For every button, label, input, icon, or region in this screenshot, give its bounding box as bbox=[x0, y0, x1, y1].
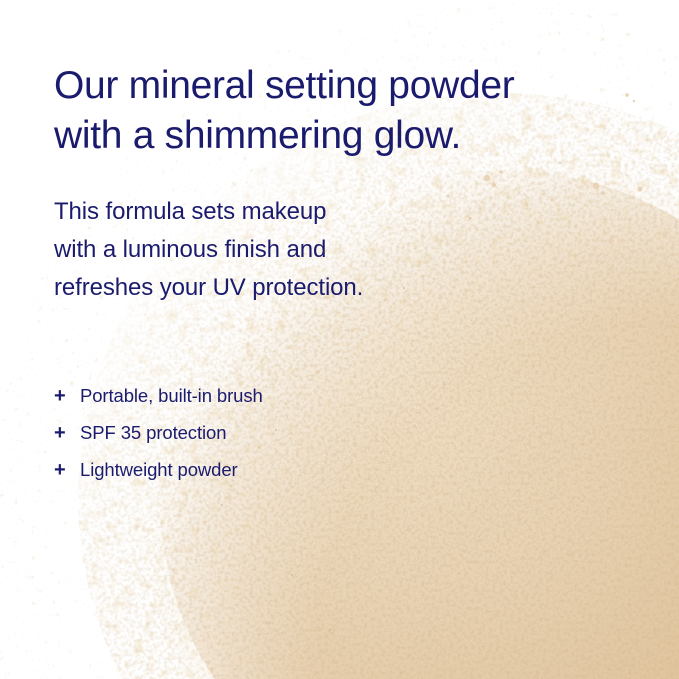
plus-icon: + bbox=[54, 386, 80, 406]
copy-block: Our mineral setting powder with a shimme… bbox=[0, 0, 679, 679]
feature-label: SPF 35 protection bbox=[80, 424, 226, 443]
page-title: Our mineral setting powder with a shimme… bbox=[54, 61, 614, 161]
plus-icon: + bbox=[54, 423, 80, 443]
plus-icon: + bbox=[54, 460, 80, 480]
list-item: + Lightweight powder bbox=[54, 460, 263, 497]
feature-label: Lightweight powder bbox=[80, 461, 238, 480]
list-item: + Portable, built-in brush bbox=[54, 386, 263, 423]
list-item: + SPF 35 protection bbox=[54, 423, 263, 460]
feature-list: + Portable, built-in brush + SPF 35 prot… bbox=[54, 386, 263, 497]
product-feature-panel: Our mineral setting powder with a shimme… bbox=[0, 0, 679, 679]
product-description: This formula sets makeup with a luminous… bbox=[54, 193, 454, 307]
feature-label: Portable, built-in brush bbox=[80, 387, 263, 406]
